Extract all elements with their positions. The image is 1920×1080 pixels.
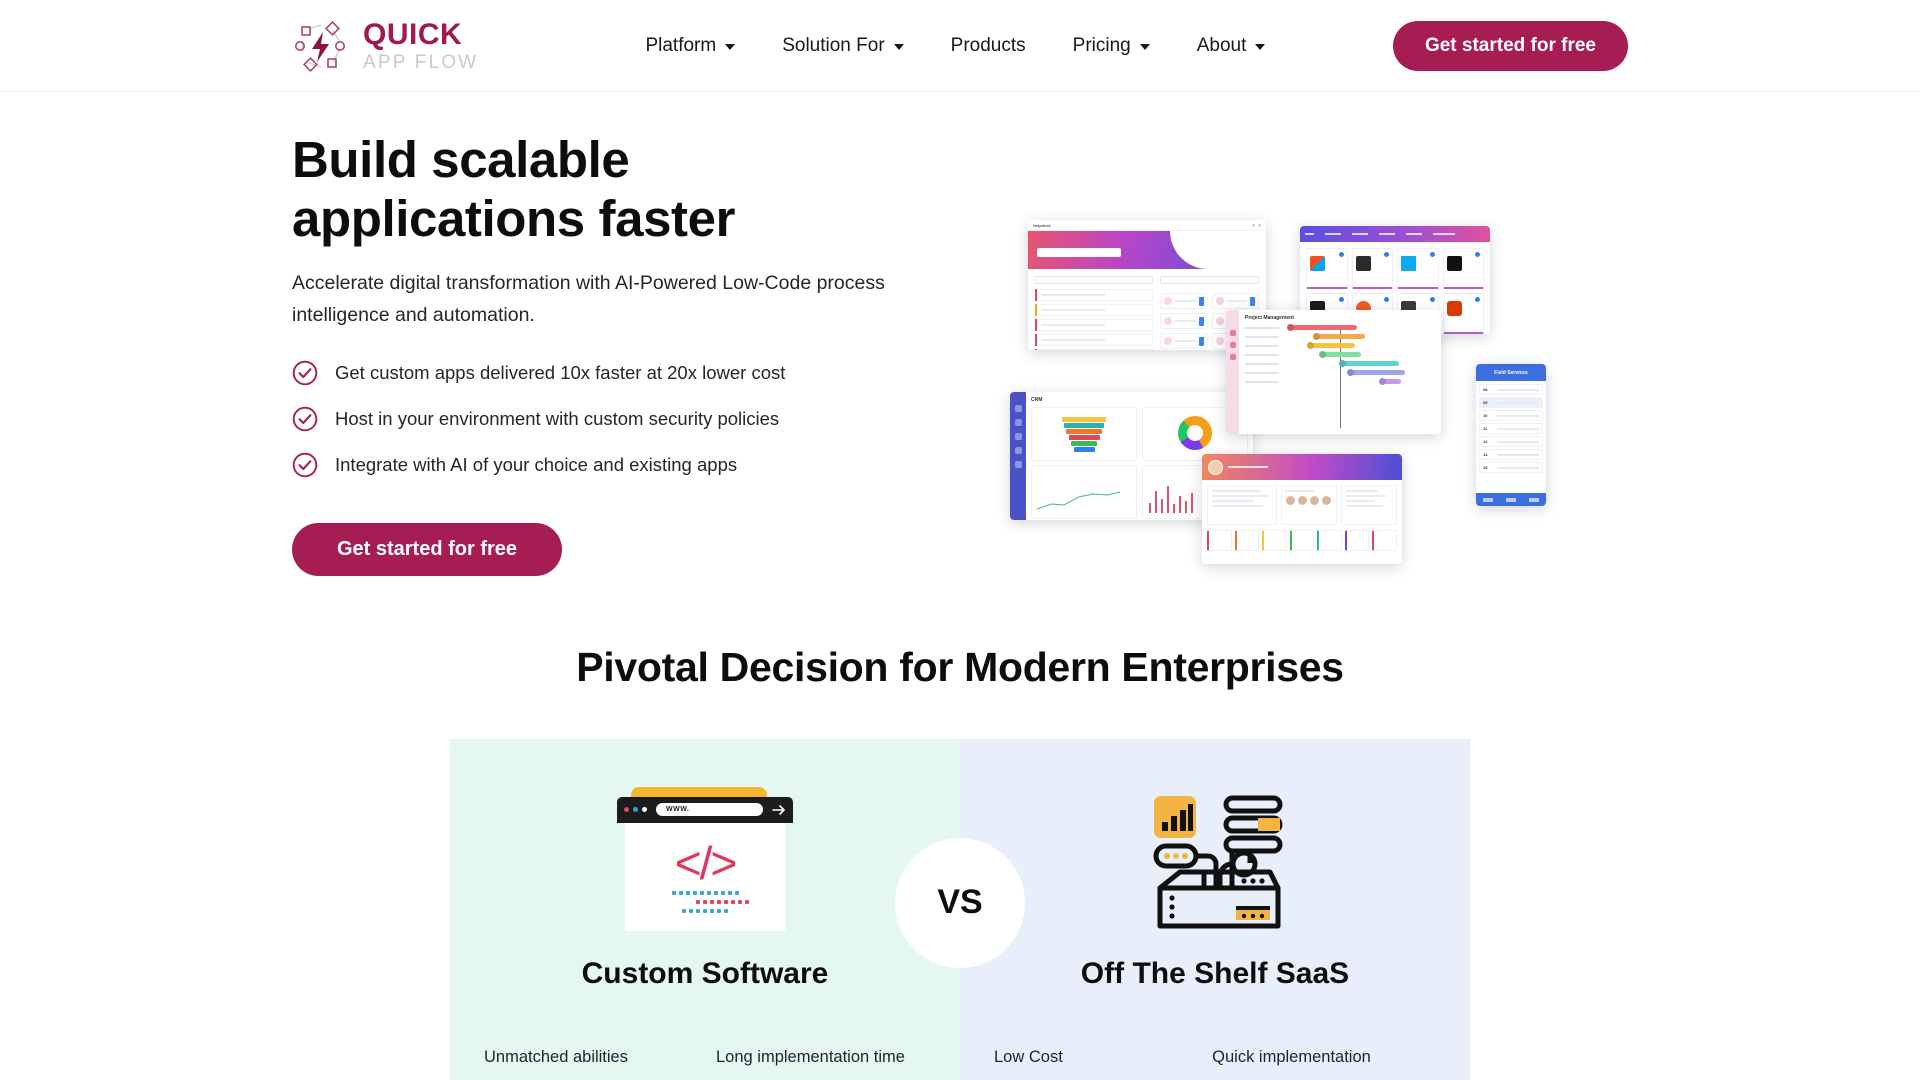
browser-url-text: WWW. — [656, 803, 763, 816]
crm-title: CRM — [1031, 397, 1248, 403]
list-item: Get custom apps delivered 10x faster at … — [292, 360, 992, 386]
nav-label: Products — [951, 35, 1026, 57]
hero-title: Build scalable applications faster — [292, 130, 992, 248]
site-header: QUICK APP FLOW Platform Solution For Pro… — [0, 0, 1920, 92]
nav-item-platform[interactable]: Platform — [645, 35, 735, 57]
list-item: Source code nightmare — [716, 1075, 926, 1080]
feature-list-left: Unmatched abilities High cost Prone to b… — [484, 1039, 926, 1080]
list-item: Integrate with AI of your choice and exi… — [292, 452, 992, 478]
bullet-label: Get custom apps delivered 10x faster at … — [335, 362, 785, 384]
mobile-app-title: Field Services — [1476, 364, 1546, 381]
chevron-down-icon — [894, 44, 904, 50]
list-item: Quick implementation — [1212, 1039, 1436, 1075]
comparison-column-custom-software: WWW. </> Custom Software Unmatched abili… — [450, 739, 960, 1080]
hero-get-started-button[interactable]: Get started for free — [292, 523, 562, 576]
hero-screenshot-collage: Helpdesk — [1010, 214, 1590, 594]
nav-label: Solution For — [782, 35, 884, 57]
list-item: Long implementation time — [716, 1039, 926, 1075]
hero-title-line2: applications faster — [292, 190, 735, 247]
browser-code-icon: WWW. </> — [484, 779, 926, 939]
nav-label: About — [1197, 35, 1247, 57]
comparison-heading-right: Off The Shelf SaaS — [994, 957, 1436, 991]
list-item: Low Cost — [994, 1039, 1190, 1075]
vs-badge: VS — [901, 844, 1019, 962]
hero-bullet-list: Get custom apps delivered 10x faster at … — [292, 360, 992, 478]
chevron-down-icon — [1140, 44, 1150, 50]
bullet-label: Host in your environment with custom sec… — [335, 408, 779, 430]
feature-list-right: Low Cost No customization Data security … — [994, 1039, 1436, 1080]
hero-subtitle: Accelerate digital transformation with A… — [292, 268, 924, 330]
check-circle-icon — [292, 452, 318, 478]
list-item: Exponential pricing — [1212, 1075, 1436, 1080]
employee-portal-mockup — [1202, 454, 1402, 564]
page-title: Pivotal Decision for Modern Enterprises — [0, 644, 1920, 691]
list-item: No customization — [994, 1075, 1190, 1080]
code-symbol: </> — [675, 840, 736, 886]
logo[interactable]: QUICK APP FLOW — [292, 17, 478, 75]
list-item: Host in your environment with custom sec… — [292, 406, 992, 432]
nav-item-products[interactable]: Products — [951, 35, 1026, 57]
flow-lightning-icon — [292, 17, 350, 75]
main-navigation: Platform Solution For Products Pricing A… — [645, 35, 1265, 57]
helpdesk-title: Helpdesk — [1033, 223, 1051, 228]
list-item: High cost — [484, 1075, 694, 1080]
list-item: Unmatched abilities — [484, 1039, 694, 1075]
saas-box-icon — [994, 779, 1436, 939]
hero-section: Build scalable applications faster Accel… — [0, 92, 1920, 576]
nav-item-solution-for[interactable]: Solution For — [782, 35, 903, 57]
chevron-down-icon — [1255, 44, 1265, 50]
logo-secondary-text: APP FLOW — [363, 53, 478, 72]
header-get-started-button[interactable]: Get started for free — [1393, 21, 1628, 71]
nav-item-about[interactable]: About — [1197, 35, 1266, 57]
check-circle-icon — [292, 360, 318, 386]
field-services-mobile-mockup: Field Services 08 09 10 11 12 14 15 — [1476, 364, 1546, 506]
nav-label: Platform — [645, 35, 716, 57]
crm-donut-chart — [1178, 416, 1212, 450]
comparison-column-off-the-shelf-saas: Off The Shelf SaaS Low Cost No customiza… — [960, 739, 1470, 1080]
arrow-right-icon — [772, 804, 786, 816]
comparison-section: WWW. </> Custom Software Unmatched abili… — [450, 739, 1470, 1080]
bullet-label: Integrate with AI of your choice and exi… — [335, 454, 737, 476]
hero-title-line1: Build scalable — [292, 131, 629, 188]
nav-label: Pricing — [1073, 35, 1131, 57]
gantt-title: Project Management — [1245, 315, 1435, 321]
project-management-mockup: Project Management — [1226, 310, 1441, 434]
logo-primary-text: QUICK — [363, 20, 478, 50]
comparison-heading-left: Custom Software — [484, 957, 926, 991]
chevron-down-icon — [725, 44, 735, 50]
nav-item-pricing[interactable]: Pricing — [1073, 35, 1150, 57]
check-circle-icon — [292, 406, 318, 432]
